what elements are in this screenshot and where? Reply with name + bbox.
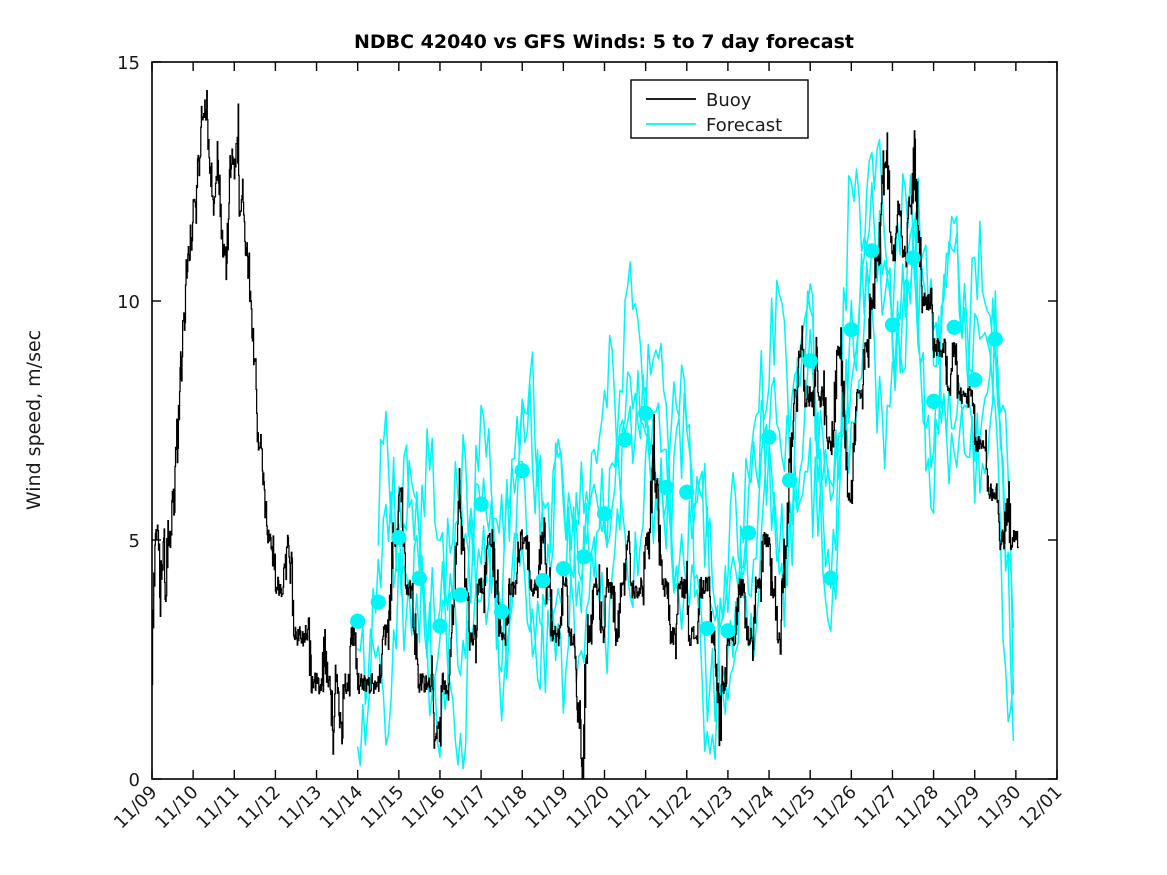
- forecast-marker-point: [371, 595, 386, 610]
- forecast-marker-point: [905, 250, 920, 265]
- wind-speed-line-chart: NDBC 42040 vs GFS Winds: 5 to 7 day fore…: [0, 0, 1167, 875]
- y-tick-label-10: 10: [117, 292, 140, 313]
- forecast-marker-point: [823, 571, 838, 586]
- forecast-marker-point: [638, 406, 653, 421]
- y-tick-label-5: 5: [129, 531, 140, 552]
- forecast-marker-point: [432, 618, 447, 633]
- forecast-marker-point: [947, 320, 962, 335]
- forecast-marker-point: [864, 243, 879, 258]
- forecast-marker-point: [391, 530, 406, 545]
- forecast-marker-point: [453, 587, 468, 602]
- forecast-marker-point: [720, 623, 735, 638]
- forecast-marker-point: [967, 372, 982, 387]
- forecast-marker-point: [988, 332, 1003, 347]
- forecast-marker-point: [535, 573, 550, 588]
- y-axis-label: Wind speed, m/sec: [23, 330, 45, 510]
- y-tick-label-15: 15: [117, 53, 140, 74]
- forecast-marker-point: [556, 561, 571, 576]
- forecast-marker-point: [700, 621, 715, 636]
- forecast-marker-point: [515, 463, 530, 478]
- forecast-marker-point: [473, 497, 488, 512]
- forecast-marker-point: [782, 473, 797, 488]
- forecast-marker-point: [741, 525, 756, 540]
- chart-figure: NDBC 42040 vs GFS Winds: 5 to 7 day fore…: [0, 0, 1167, 875]
- plot-area-background: [152, 62, 1057, 779]
- forecast-marker-point: [844, 322, 859, 337]
- y-tick-label-0: 0: [129, 770, 140, 791]
- forecast-marker-point: [926, 394, 941, 409]
- forecast-marker-point: [803, 353, 818, 368]
- forecast-marker-point: [617, 432, 632, 447]
- chart-legend: Buoy Forecast: [631, 80, 808, 138]
- forecast-marker-point: [679, 485, 694, 500]
- forecast-marker-point: [659, 480, 674, 495]
- forecast-marker-point: [885, 317, 900, 332]
- forecast-marker-point: [576, 549, 591, 564]
- forecast-marker-point: [412, 571, 427, 586]
- forecast-marker-point: [350, 614, 365, 629]
- forecast-marker-point: [597, 506, 612, 521]
- chart-title: NDBC 42040 vs GFS Winds: 5 to 7 day fore…: [354, 31, 854, 53]
- legend-label-buoy: Buoy: [706, 90, 752, 111]
- forecast-marker-point: [761, 430, 776, 445]
- legend-label-forecast: Forecast: [706, 115, 782, 136]
- forecast-marker-point: [494, 604, 509, 619]
